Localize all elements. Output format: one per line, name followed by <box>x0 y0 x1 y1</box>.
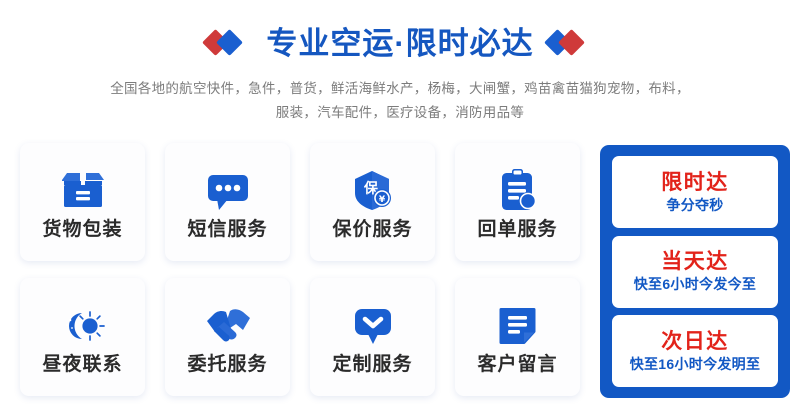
diamond-pair-icon-left <box>206 30 252 56</box>
promo-card-same-day-delivery[interactable]: 当天达 快至6小时今发今至 <box>612 236 778 308</box>
diamond-pair-icon-right <box>548 30 594 56</box>
svg-text:¥: ¥ <box>378 195 385 205</box>
chat-bubble-dots-icon <box>201 166 255 216</box>
handshake-icon <box>201 301 255 351</box>
header: 专业空运·限时必达 全国各地的航空快件，急件，普货，鲜活海鲜水产，杨梅，大闸蟹，… <box>0 22 800 124</box>
service-card-sms[interactable]: 短信服务 <box>165 143 290 261</box>
service-card-insurance[interactable]: 保 ¥ 保价服务 <box>310 143 435 261</box>
document-note-icon <box>491 301 545 351</box>
moon-sun-icon <box>56 301 110 351</box>
service-card-label: 定制服务 <box>332 355 412 374</box>
service-card-customer-message[interactable]: 客户留言 <box>455 278 580 396</box>
service-card-label: 回单服务 <box>477 220 557 239</box>
promo-desc: 快至16小时今发明至 <box>630 357 761 372</box>
chat-bubble-chevron-icon <box>346 301 400 351</box>
title-row: 专业空运·限时必达 <box>0 22 800 64</box>
service-card-label: 委托服务 <box>187 355 267 374</box>
service-card-label: 短信服务 <box>187 220 267 239</box>
service-card-label: 保价服务 <box>332 220 412 239</box>
service-card-customization[interactable]: 定制服务 <box>310 278 435 396</box>
delivery-speed-panel: 限时达 争分夺秒 当天达 快至6小时今发今至 次日达 快至16小时今发明至 <box>600 145 790 398</box>
subtitle-line-2: 服装，汽车配件，医疗设备，消防用品等 <box>0 101 800 125</box>
subtitle: 全国各地的航空快件，急件，普货，鲜活海鲜水产，杨梅，大闸蟹，鸡苗禽苗猫狗宠物，布… <box>0 77 800 124</box>
service-card-cargo-packaging[interactable]: 货物包装 <box>20 143 145 261</box>
service-card-day-night-contact[interactable]: 昼夜联系 <box>20 278 145 396</box>
promo-card-next-day-delivery[interactable]: 次日达 快至16小时今发明至 <box>612 315 778 387</box>
service-card-label: 昼夜联系 <box>42 355 122 374</box>
service-card-entrustment[interactable]: 委托服务 <box>165 278 290 396</box>
promo-desc: 快至6小时今发今至 <box>634 277 757 292</box>
promo-title: 限时达 <box>661 171 729 194</box>
service-card-label: 货物包装 <box>42 220 122 239</box>
promo-title: 当天达 <box>661 250 729 273</box>
service-card-label: 客户留言 <box>477 355 557 374</box>
subtitle-line-1: 全国各地的航空快件，急件，普货，鲜活海鲜水产，杨梅，大闸蟹，鸡苗禽苗猫狗宠物，布… <box>0 77 800 101</box>
clipboard-receipt-icon <box>491 166 545 216</box>
box-package-icon <box>56 166 110 216</box>
shield-insurance-yuan-icon: 保 ¥ <box>346 166 400 216</box>
promo-desc: 争分夺秒 <box>666 198 723 213</box>
page-title: 专业空运·限时必达 <box>266 28 533 59</box>
promo-title: 次日达 <box>661 330 729 353</box>
promo-banner: 专业空运·限时必达 全国各地的航空快件，急件，普货，鲜活海鲜水产，杨梅，大闸蟹，… <box>0 0 800 410</box>
service-card-grid: 货物包装 短信服务 保 <box>20 143 580 396</box>
promo-card-timed-delivery[interactable]: 限时达 争分夺秒 <box>612 156 778 228</box>
service-card-receipt[interactable]: 回单服务 <box>455 143 580 261</box>
